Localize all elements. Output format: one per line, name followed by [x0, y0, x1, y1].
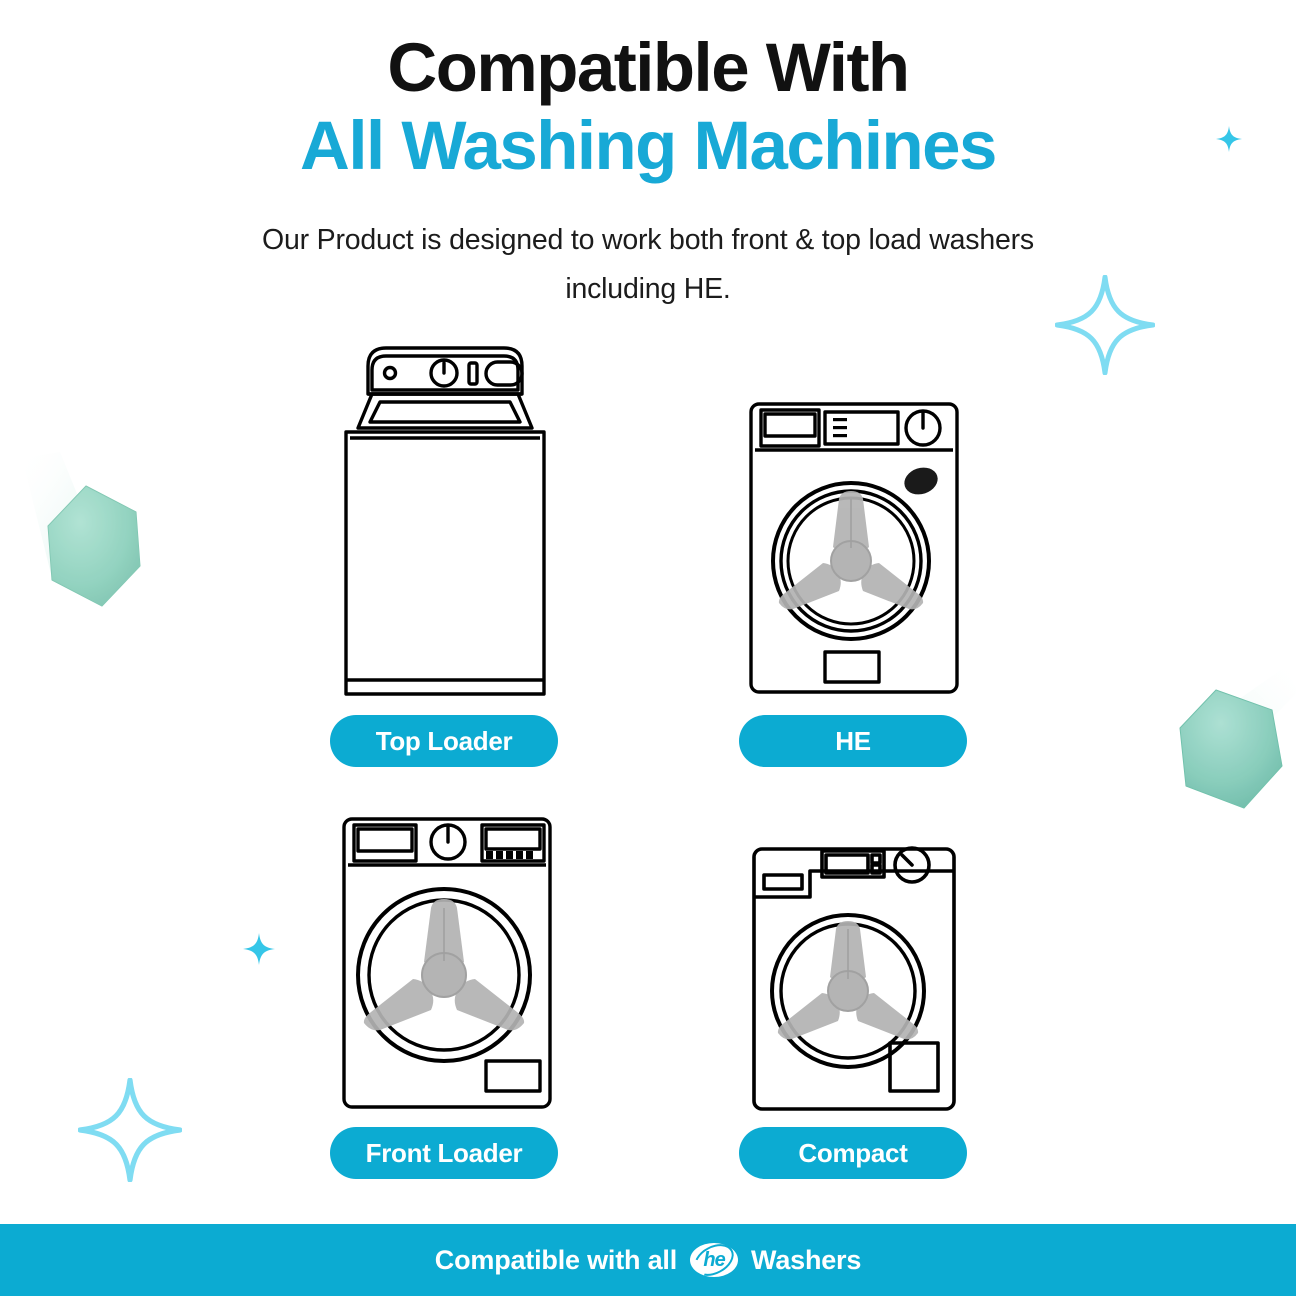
front-load-washer-icon: [338, 813, 556, 1113]
label-front-loader-text: Front Loader: [366, 1138, 523, 1169]
label-he-text: HE: [835, 726, 871, 757]
label-he[interactable]: HE: [739, 715, 967, 767]
display-lines-icon: [833, 418, 847, 437]
banner-text-after: Washers: [751, 1245, 861, 1276]
label-compact-text: Compact: [798, 1138, 907, 1169]
he-logo-badge-text: he: [703, 1250, 724, 1270]
compact-washer-icon: [748, 843, 960, 1115]
label-compact[interactable]: Compact: [739, 1127, 967, 1179]
power-knob-icon: [431, 360, 457, 386]
he-washer-icon: [745, 398, 963, 698]
infographic-canvas: Compatible With All Washing Machines Our…: [0, 0, 1296, 1296]
label-front-loader[interactable]: Front Loader: [330, 1127, 558, 1179]
indicator-dot-icon: [385, 368, 396, 379]
panel-bar-icon: [469, 363, 477, 384]
button-row-icon: [486, 851, 533, 859]
label-top-loader[interactable]: Top Loader: [330, 715, 558, 767]
label-top-loader-text: Top Loader: [376, 726, 513, 757]
washer-grid: Top Loader HE Front Loader Compact: [0, 0, 1296, 1296]
status-indicator-icon: [901, 463, 941, 498]
he-logo-badge-icon: he: [690, 1243, 738, 1277]
bottom-banner: Compatible with all he Washers: [0, 1224, 1296, 1296]
banner-text-before: Compatible with all: [435, 1245, 677, 1276]
top-load-washer-icon: [334, 336, 556, 706]
